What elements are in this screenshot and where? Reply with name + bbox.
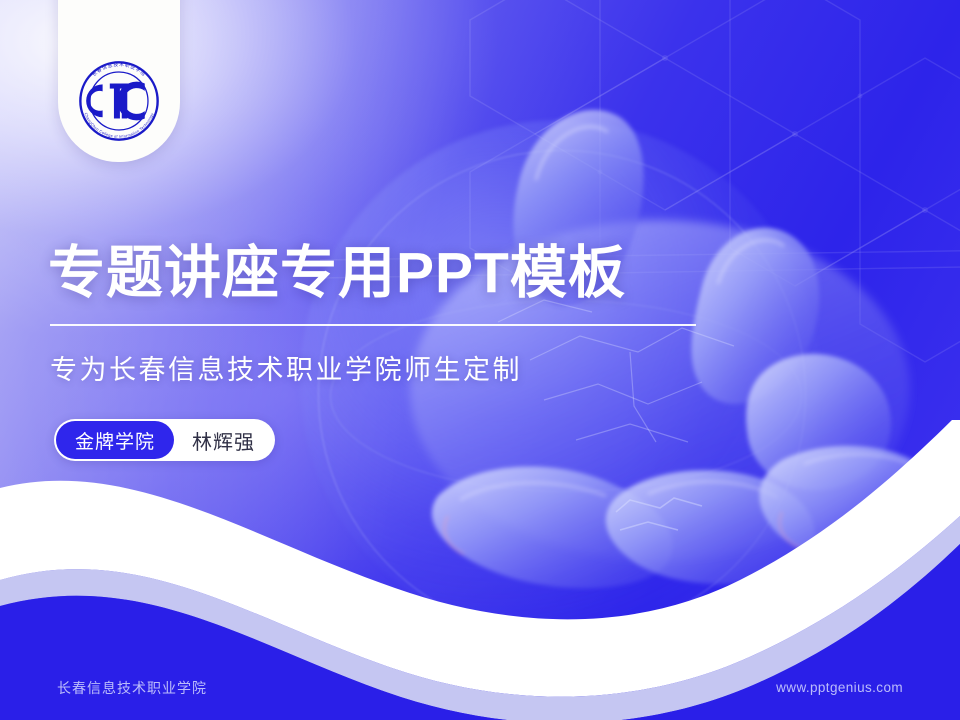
citc-logo-icon: 长春信息技术职业学院 ChangChun College of Informat…	[73, 55, 165, 147]
page-title: 专题讲座专用PPT模板	[48, 240, 626, 306]
title-divider	[50, 324, 696, 326]
sphere-latitude-ring	[330, 300, 802, 492]
page-subtitle: 专为长春信息技术职业学院师生定制	[50, 348, 522, 387]
footer-website-url[interactable]: www.pptgenius.com	[776, 680, 903, 695]
institution-logo-tab: 长春信息技术职业学院 ChangChun College of Informat…	[58, 0, 180, 162]
presenter-name: 林辉强	[192, 426, 255, 455]
presentation-cover-slide: 长春信息技术职业学院 ChangChun College of Informat…	[0, 0, 960, 720]
credit-pill: 金牌学院 林辉强	[54, 419, 275, 461]
footer-institution-name: 长春信息技术职业学院	[57, 678, 207, 698]
status-badge: 金牌学院	[56, 421, 174, 459]
